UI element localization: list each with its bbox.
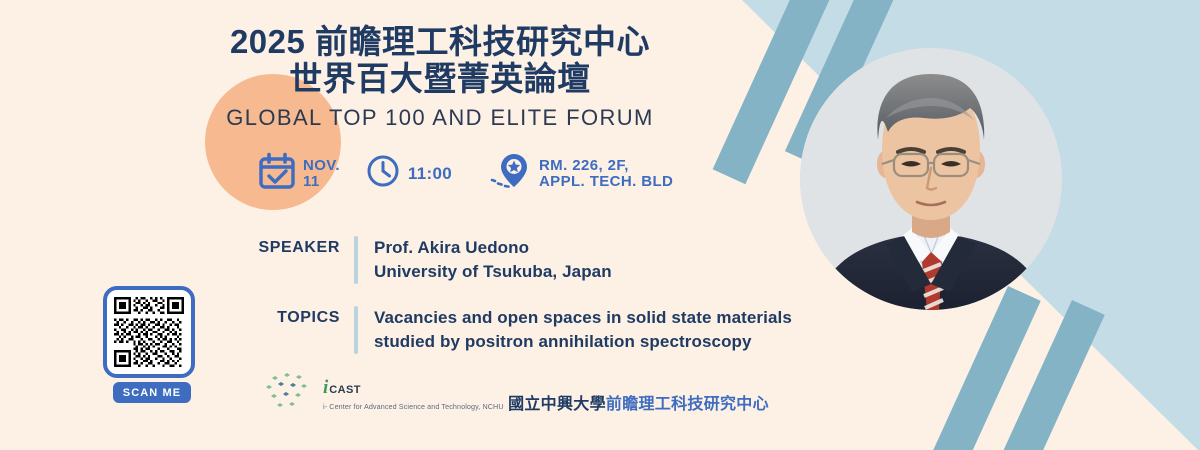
map-pin-star-icon	[488, 150, 532, 197]
meta-location-line-1: RM. 226, 2F,	[539, 157, 629, 174]
qr-card[interactable]	[103, 286, 195, 378]
icast-letter-i: i	[323, 378, 328, 397]
meta-time: 11:00	[366, 154, 452, 193]
qr-block[interactable]: SCAN ME	[103, 286, 201, 403]
topics-line-2: studied by positron annihilation spectro…	[374, 330, 792, 354]
meta-location-line-2: APPL. TECH. BLD	[539, 174, 673, 190]
event-meta-row: NOV. 11 11:00	[258, 150, 673, 197]
icast-logo: i CAST i- Center for Advanced Science an…	[266, 370, 769, 421]
qr-code-icon[interactable]	[114, 297, 184, 367]
icast-chinese-name: 國立中興大學前瞻理工科技研究中心	[508, 396, 769, 413]
calendar-check-icon	[258, 152, 296, 195]
title-english: GLOBAL TOP 100 AND ELITE FORUM	[160, 105, 720, 131]
meta-date: NOV. 11	[258, 152, 340, 195]
meta-location: RM. 226, 2F, APPL. TECH. BLD	[488, 150, 673, 197]
topics-details: Vacancies and open spaces in solid state…	[358, 306, 792, 354]
scan-me-label[interactable]: SCAN ME	[113, 382, 191, 403]
icast-logo-text: i CAST i- Center for Advanced Science an…	[323, 378, 769, 413]
topics-block: TOPICS Vacancies and open spaces in soli…	[232, 306, 792, 354]
university-name-cn: 國立中興大學	[508, 396, 606, 413]
icast-subtitle: i- Center for Advanced Science and Techn…	[323, 402, 504, 411]
center-name-cn: 前瞻理工科技研究中心	[606, 396, 769, 413]
meta-date-month: NOV.	[303, 157, 340, 174]
headline-block: 2025 前瞻理工科技研究中心 世界百大暨菁英論壇 GLOBAL TOP 100…	[160, 24, 720, 131]
speaker-block: SPEAKER Prof. Akira Uedono University of…	[232, 236, 612, 284]
meta-location-text: RM. 226, 2F, APPL. TECH. BLD	[539, 158, 673, 190]
speaker-name: Prof. Akira Uedono	[374, 236, 612, 260]
topics-line-1: Vacancies and open spaces in solid state…	[374, 306, 792, 330]
speaker-affiliation: University of Tsukuba, Japan	[374, 260, 612, 284]
clock-icon	[366, 154, 400, 193]
meta-time-text: 11:00	[408, 164, 452, 184]
meta-date-day: 11	[303, 174, 340, 190]
icast-wordmark: i CAST	[323, 378, 769, 397]
meta-date-text: NOV. 11	[303, 158, 340, 190]
speaker-details: Prof. Akira Uedono University of Tsukuba…	[358, 236, 612, 284]
title-chinese-line-1: 2025 前瞻理工科技研究中心	[160, 24, 720, 61]
event-banner: 2025 前瞻理工科技研究中心 世界百大暨菁英論壇 GLOBAL TOP 100…	[0, 0, 1200, 450]
icast-letters-cast: CAST	[329, 385, 361, 396]
speaker-portrait	[800, 48, 1062, 310]
title-chinese-line-2: 世界百大暨菁英論壇	[160, 61, 720, 98]
speaker-label: SPEAKER	[232, 236, 354, 257]
topics-label: TOPICS	[232, 306, 354, 327]
icast-dots-logo-icon	[266, 370, 316, 421]
